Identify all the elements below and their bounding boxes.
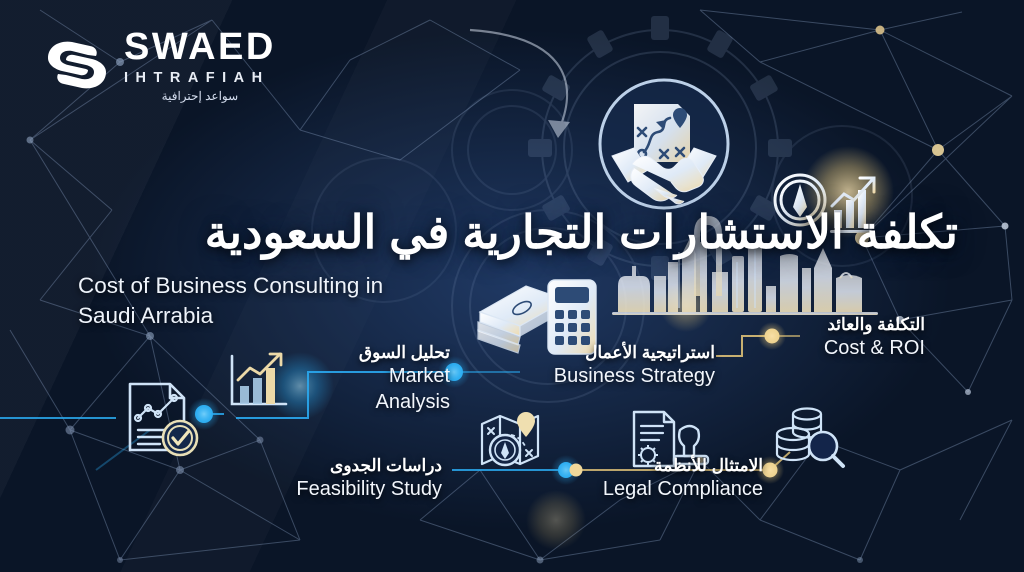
label-legal-compliance-en: Legal Compliance [578, 478, 763, 501]
poster-canvas: SWAED IHTRAFIAH سواعد إحترافية تكلفة الا… [0, 0, 1024, 572]
label-cost-roi-arabic: التكلفة والعائد [770, 315, 925, 335]
label-legal-compliance-arabic: الامتثال للأنظمة [578, 456, 763, 476]
label-legal-compliance: الامتثال للأنظمة Legal Compliance [578, 456, 763, 502]
page-title-english-line2: Saudi Arrabia [78, 301, 498, 331]
headline-block: تكلفة الاستشارات التجارية في السعودية Co… [78, 206, 958, 330]
page-title-english-line1: Cost of Business Consulting in [78, 271, 498, 301]
label-market-analysis-arabic: تحليل السوق [310, 343, 450, 363]
label-cost-roi-en: Cost & ROI [770, 337, 925, 360]
brand-subtitle: IHTRAFIAH [124, 71, 276, 86]
swaed-interlocking-s-mark [44, 36, 110, 94]
brand-arabic: سواعد إحترافية [124, 90, 276, 102]
brand-logo: SWAED IHTRAFIAH سواعد إحترافية [44, 28, 276, 102]
label-cost-roi: التكلفة والعائد Cost & ROI [770, 315, 925, 361]
label-business-strategy: استراتيجية الأعمال Business Strategy [520, 343, 715, 389]
brand-name: SWAED [124, 28, 276, 66]
label-feasibility-study-arabic: دراسات الجدوى [252, 456, 442, 476]
handshake-strategy-icon [600, 80, 728, 208]
label-feasibility-study: دراسات الجدوى Feasibility Study [252, 456, 442, 502]
label-business-strategy-arabic: استراتيجية الأعمال [520, 343, 715, 363]
page-title-english: Cost of Business Consulting in Saudi Arr… [78, 271, 498, 330]
label-business-strategy-en: Business Strategy [520, 365, 715, 388]
page-title-arabic: تكلفة الاستشارات التجارية في السعودية [78, 206, 958, 259]
label-market-analysis-en2: Analysis [310, 391, 450, 414]
label-market-analysis-en1: Market [310, 365, 450, 388]
label-feasibility-study-en: Feasibility Study [252, 478, 442, 501]
label-market-analysis: تحليل السوق Market Analysis [310, 343, 450, 414]
